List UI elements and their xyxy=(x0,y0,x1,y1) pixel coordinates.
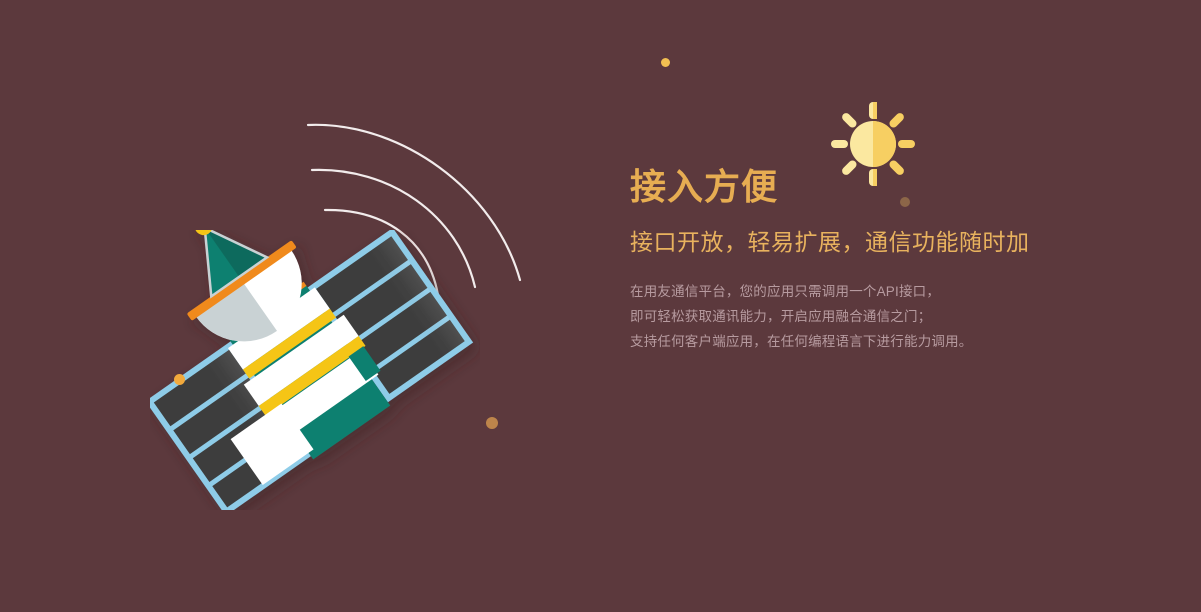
satellite-icon xyxy=(150,230,480,510)
dot-gold-top xyxy=(661,58,670,67)
body-copy: 在用友通信平台，您的应用只需调用一个API接口， 即可轻松获取通讯能力，开启应用… xyxy=(630,279,1050,354)
dot-gold-left xyxy=(174,374,185,385)
body-copy-line: 在用友通信平台，您的应用只需调用一个API接口， xyxy=(630,279,1050,304)
page-subtitle: 接口开放，轻易扩展，通信功能随时加 xyxy=(630,227,1050,257)
page-title: 接入方便 xyxy=(630,165,1050,209)
body-copy-line: 支持任何客户端应用，在任何编程语言下进行能力调用。 xyxy=(630,329,1050,354)
hero-text-block: 接入方便 接口开放，轻易扩展，通信功能随时加 在用友通信平台，您的应用只需调用一… xyxy=(630,165,1050,354)
body-copy-line: 即可轻松获取通讯能力，开启应用融合通信之门； xyxy=(630,304,1050,329)
hero-slide: 接入方便 接口开放，轻易扩展，通信功能随时加 在用友通信平台，您的应用只需调用一… xyxy=(0,0,1201,612)
dot-tan-middle xyxy=(486,417,498,429)
